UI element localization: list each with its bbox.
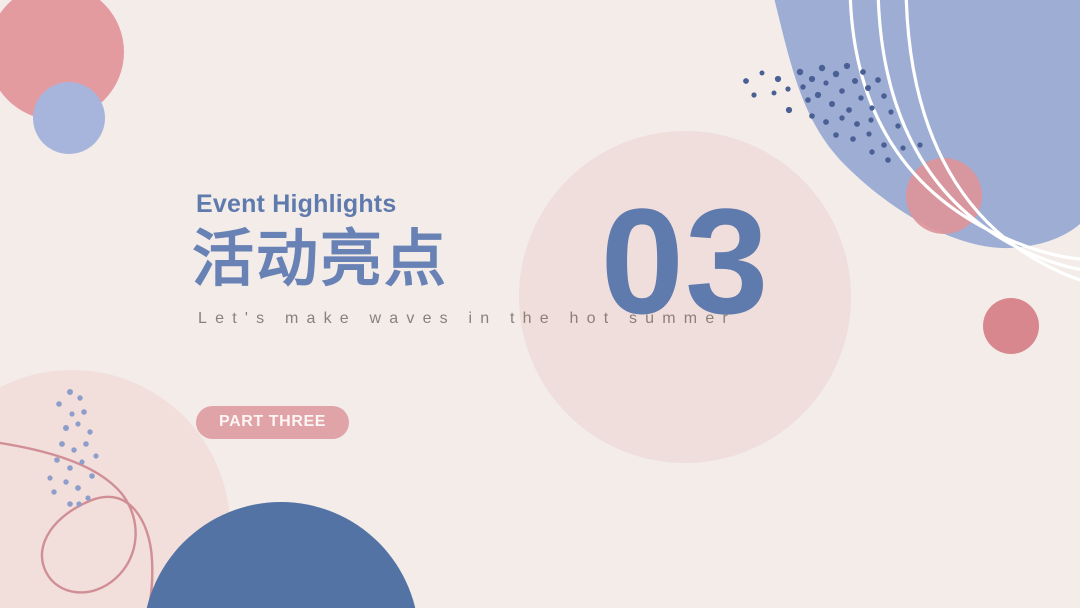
rose-loop-path <box>0 440 152 608</box>
page-title: 活动亮点 <box>192 225 796 294</box>
blue-circle-top-left <box>33 82 105 154</box>
rose-loop-line <box>0 440 152 608</box>
eyebrow-heading: Event Highlights <box>196 190 796 219</box>
pale-circle-bottom-left <box>0 370 230 608</box>
white-arc-lines <box>850 0 1080 285</box>
white-arc-line-2 <box>878 0 1080 271</box>
title-block: Event Highlights 活动亮点 Let's make waves i… <box>196 190 796 328</box>
rose-circle-top-left <box>0 0 124 120</box>
rose-circle-top-right <box>906 158 982 234</box>
dot-scatter-bottom-left <box>47 389 98 507</box>
blue-blob-top-right-extension <box>845 0 1080 218</box>
tagline-text: Let's make waves in the hot summer <box>198 310 796 328</box>
status-badge: PART THREE <box>196 406 349 439</box>
rose-circle-right-small <box>983 298 1039 354</box>
white-arc-line-3 <box>906 0 1080 285</box>
white-arc-line-1 <box>850 0 1080 259</box>
dot-scatter-top-right <box>743 63 923 163</box>
presentation-slide: 03 Event Highlights 活动亮点 Let's make wave… <box>0 0 1080 608</box>
blue-circle-bottom <box>143 502 419 608</box>
